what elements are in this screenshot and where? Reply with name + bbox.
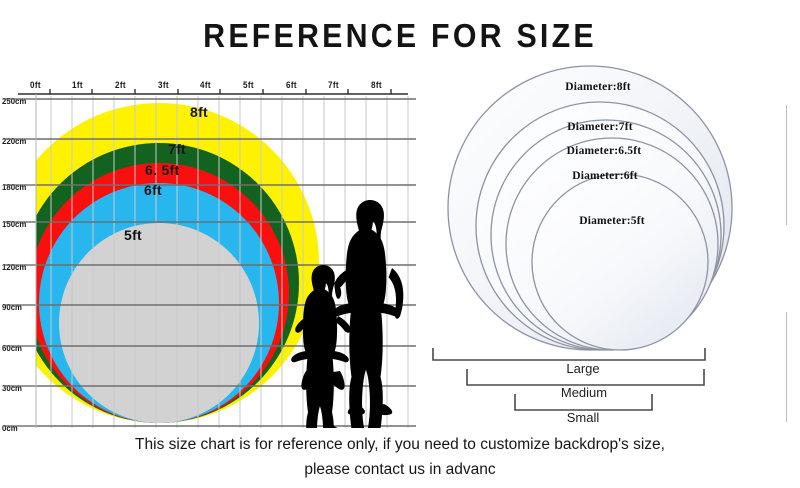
circle-label-8ft: Diameter:8ft [565, 81, 631, 93]
edge-artifact-top [786, 105, 787, 225]
human-scale-chart: 0ft 1ft 2ft 3ft 4ft 5ft 6ft 7ft 8ft 250c… [0, 78, 420, 428]
footer-line-2: please contact us in advanc [30, 457, 770, 482]
size-reference-chart: REFERENCE FOR SIZE 0ft 1ft 2ft 3ft 4ft 5… [0, 0, 800, 488]
bracket-label-large: Large [566, 361, 599, 376]
footer-line-1: This size chart is for reference only, i… [30, 432, 770, 457]
footer-note: This size chart is for reference only, i… [30, 432, 770, 482]
backdrop-circles-diagram: Diameter:8ft Diameter:7ft Diameter:6.5ft… [420, 60, 800, 370]
ring-label-5ft: 5ft [124, 227, 142, 243]
bracket-label-small: Small [567, 410, 600, 425]
circle-label-6ft: Diameter:6ft [572, 170, 638, 182]
page-title: REFERENCE FOR SIZE [32, 17, 768, 55]
edge-artifact-bottom [786, 312, 787, 422]
size-brackets: Large Medium Small [420, 344, 800, 430]
circle-label-7ft: Diameter:7ft [567, 121, 633, 133]
ring-label-8ft: 8ft [190, 104, 208, 120]
axis-lines [0, 78, 420, 428]
ring-label-6_5ft: 6. 5ft [145, 162, 179, 178]
circle-label-5ft: Diameter:5ft [579, 215, 645, 227]
bracket-label-medium: Medium [561, 385, 607, 400]
ring-label-7ft: 7ft [168, 141, 186, 157]
ring-label-6ft: 6ft [144, 182, 162, 198]
circle-5ft [532, 174, 708, 350]
circle-label-6_5ft: Diameter:6.5ft [567, 145, 642, 157]
bracket-large [433, 348, 705, 360]
